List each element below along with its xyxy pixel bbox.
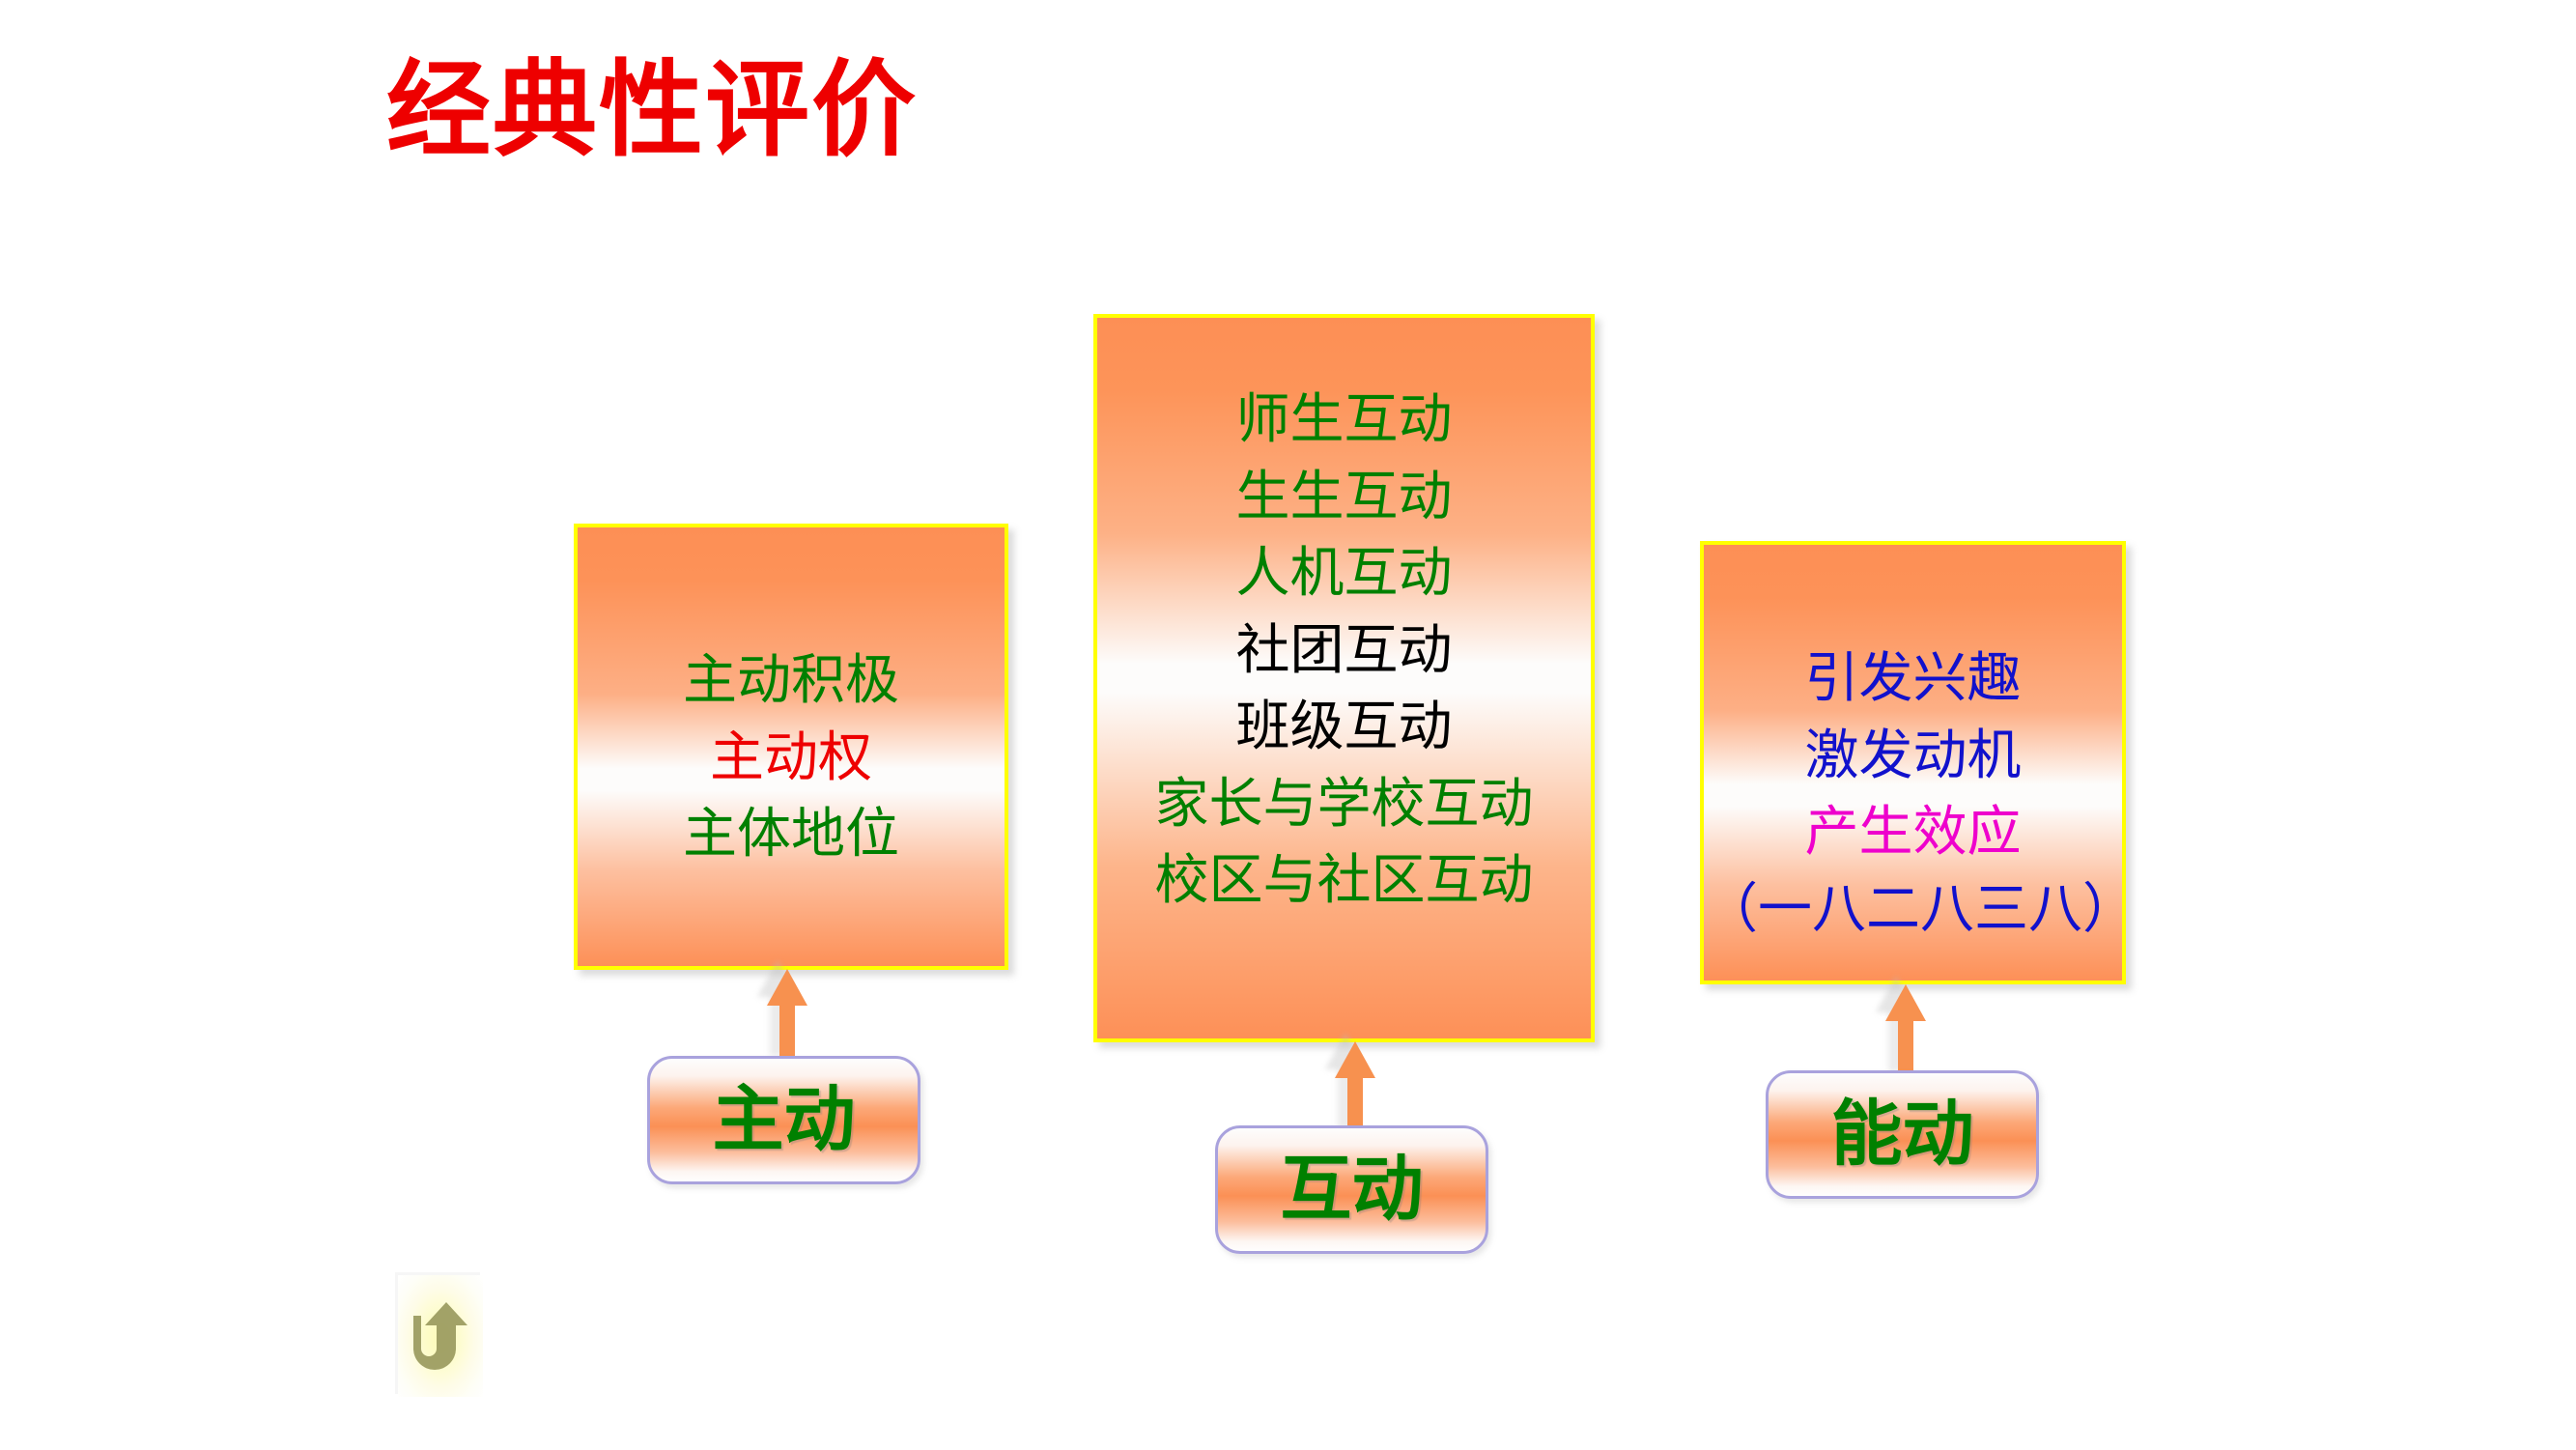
label-box-text: 能动 (1831, 1099, 1974, 1171)
panel-line: 主动积极 (578, 641, 1005, 719)
panel-line: 产生效应 (1704, 793, 2122, 870)
arrow-shaft (1347, 1077, 1363, 1127)
label-box-initiative[interactable]: 能动 (1766, 1070, 2039, 1199)
arrow-head (1885, 984, 1926, 1021)
slide-canvas: 经典性评价 主动积极 主动权 主体地位 师生互动 生生互动 人机互动 社团互动 … (0, 0, 2576, 1450)
page-title: 经典性评价 (386, 50, 918, 173)
label-box-text: 互动 (1281, 1154, 1424, 1226)
arrow-shaft (1898, 1020, 1913, 1070)
arrow-head (1335, 1041, 1375, 1078)
panel-proactive: 主动积极 主动权 主体地位 (574, 524, 1008, 970)
label-box-proactive[interactable]: 主动 (647, 1056, 920, 1184)
panel-initiative-text: 引发兴趣 激发动机 产生效应 （一八二八三八） (1704, 640, 2122, 947)
panel-line: 激发动机 (1704, 717, 2122, 794)
panel-line: 社团互动 (1097, 611, 1591, 689)
panel-line: 班级互动 (1097, 688, 1591, 765)
panel-line: 主动权 (578, 719, 1005, 796)
panel-line: 校区与社区互动 (1097, 841, 1591, 919)
panel-line: 师生互动 (1097, 381, 1591, 458)
panel-line: 引发兴趣 (1704, 640, 2122, 717)
arrow-head (767, 969, 807, 1006)
panel-line: 生生互动 (1097, 458, 1591, 535)
label-box-text: 主动 (713, 1085, 856, 1156)
uturn-arrow-glyph (408, 1298, 473, 1376)
return-uturn-arrow-icon[interactable] (398, 1275, 483, 1397)
panel-proactive-text: 主动积极 主动权 主体地位 (578, 641, 1005, 872)
panel-line: 人机互动 (1097, 534, 1591, 611)
arrow-shaft (779, 1005, 795, 1058)
panel-line: 主体地位 (578, 795, 1005, 872)
label-box-interaction[interactable]: 互动 (1215, 1125, 1488, 1254)
panel-line: 家长与学校互动 (1097, 765, 1591, 842)
panel-interaction: 师生互动 生生互动 人机互动 社团互动 班级互动 家长与学校互动 校区与社区互动 (1093, 314, 1595, 1042)
panel-line: （一八二八三八） (1704, 870, 2122, 948)
panel-initiative: 引发兴趣 激发动机 产生效应 （一八二八三八） (1700, 541, 2126, 984)
panel-interaction-text: 师生互动 生生互动 人机互动 社团互动 班级互动 家长与学校互动 校区与社区互动 (1097, 381, 1591, 919)
